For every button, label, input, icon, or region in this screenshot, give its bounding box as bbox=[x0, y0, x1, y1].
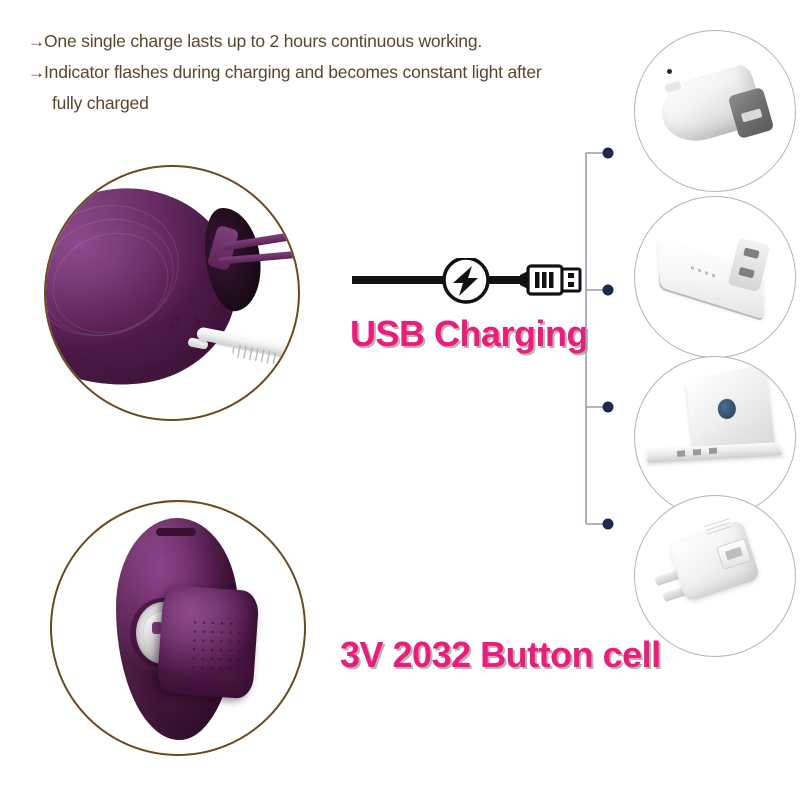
usb-plug-bar bbox=[542, 272, 547, 288]
bracket-dot bbox=[603, 402, 614, 413]
laptop-thumb bbox=[634, 356, 796, 518]
battery-door-texture bbox=[189, 618, 247, 676]
laptop-brand-logo bbox=[717, 397, 737, 419]
bracket-dot bbox=[603, 285, 614, 296]
power-bank-clip bbox=[635, 197, 795, 357]
laptop-lid bbox=[686, 364, 775, 451]
usb-port bbox=[741, 108, 763, 122]
wall-adapter-thumb bbox=[634, 495, 796, 657]
usb-port bbox=[738, 267, 754, 278]
battery-type-title: 3V 2032 Button cell bbox=[340, 634, 661, 676]
battery-door bbox=[156, 585, 259, 699]
bullet-item-1: →One single charge lasts up to 2 hours c… bbox=[28, 26, 638, 57]
power-bank-thumb bbox=[634, 196, 796, 358]
power-bank-port-face bbox=[728, 238, 771, 292]
car-charger-side-contact bbox=[667, 69, 672, 74]
charging-photo-clip: CE DC bbox=[46, 167, 298, 419]
car-charger-thumb bbox=[634, 30, 796, 192]
battery-photo-clip bbox=[52, 502, 304, 754]
usb-charging-title: USB Charging bbox=[350, 313, 588, 355]
connector-bracket bbox=[578, 140, 618, 540]
cable-left-segment bbox=[352, 276, 448, 284]
usb-plug-bar bbox=[535, 272, 540, 288]
arrow-icon: → bbox=[28, 27, 44, 57]
usb-port bbox=[743, 248, 759, 259]
wall-adapter-clip bbox=[635, 496, 795, 656]
car-charger-clip bbox=[635, 31, 795, 191]
bullet-text-2: Indicator flashes during charging and be… bbox=[44, 62, 542, 82]
remote-lanyard-slot bbox=[156, 528, 196, 536]
feature-bullet-list: →One single charge lasts up to 2 hours c… bbox=[28, 26, 638, 118]
usb-plug-bar bbox=[549, 272, 554, 288]
usb-tip-contact bbox=[568, 282, 574, 287]
arrow-icon: → bbox=[28, 58, 44, 88]
bullet-text-1: One single charge lasts up to 2 hours co… bbox=[44, 31, 482, 51]
car-charger-port-face bbox=[728, 87, 775, 139]
laptop-clip bbox=[635, 357, 795, 517]
usb-cable-illustration bbox=[352, 258, 582, 304]
battery-compartment-photo bbox=[50, 500, 306, 756]
bullet-text-2-continuation: fully charged bbox=[28, 88, 638, 118]
usb-tip-contact bbox=[568, 273, 574, 278]
charging-port-photo: CE DC bbox=[44, 165, 300, 421]
bullet-item-2: →Indicator flashes during charging and b… bbox=[28, 57, 638, 88]
bracket-dot bbox=[603, 148, 614, 159]
bracket-dot bbox=[603, 519, 614, 530]
